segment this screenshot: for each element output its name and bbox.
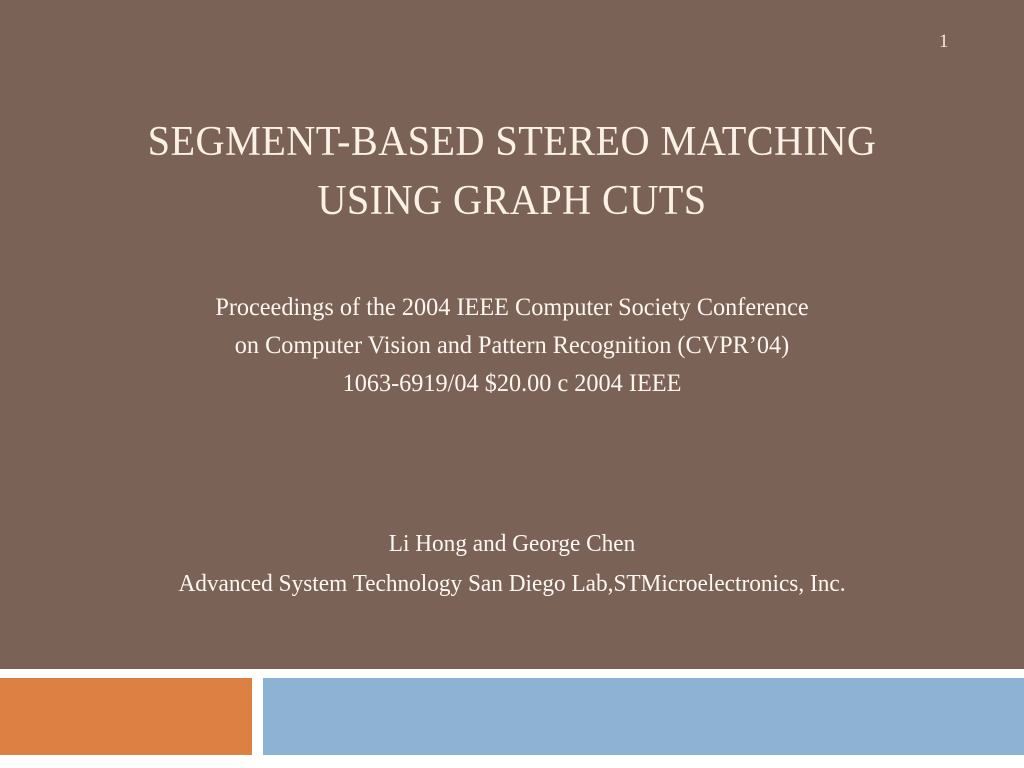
- footer-accent-block: [0, 678, 252, 755]
- slide-title: Segment-based Stereo Matching using Grap…: [62, 113, 962, 231]
- subtitle-line-3: 1063-6919/04 $20.00 c 2004 IEEE: [76, 365, 949, 403]
- subtitle-line-2: on Computer Vision and Pattern Recogniti…: [76, 327, 949, 365]
- authors-line-2: Advanced System Technology San Diego Lab…: [76, 564, 949, 604]
- subtitle-line-1: Proceedings of the 2004 IEEE Computer So…: [76, 289, 949, 327]
- footer-band: Guan-Yu Liu: [263, 678, 1024, 755]
- presentation-slide: 1 Segment-based Stereo Matching using Gr…: [0, 0, 1024, 768]
- slide-number: 1: [939, 32, 949, 51]
- slide-subtitle: Proceedings of the 2004 IEEE Computer So…: [62, 289, 962, 403]
- title-line-2: using Graph Cuts: [80, 172, 944, 231]
- authors-line-1: Li Hong and George Chen: [76, 524, 949, 564]
- title-line-1: Segment-based Stereo Matching: [80, 113, 944, 172]
- slide-authors: Li Hong and George Chen Advanced System …: [62, 524, 962, 604]
